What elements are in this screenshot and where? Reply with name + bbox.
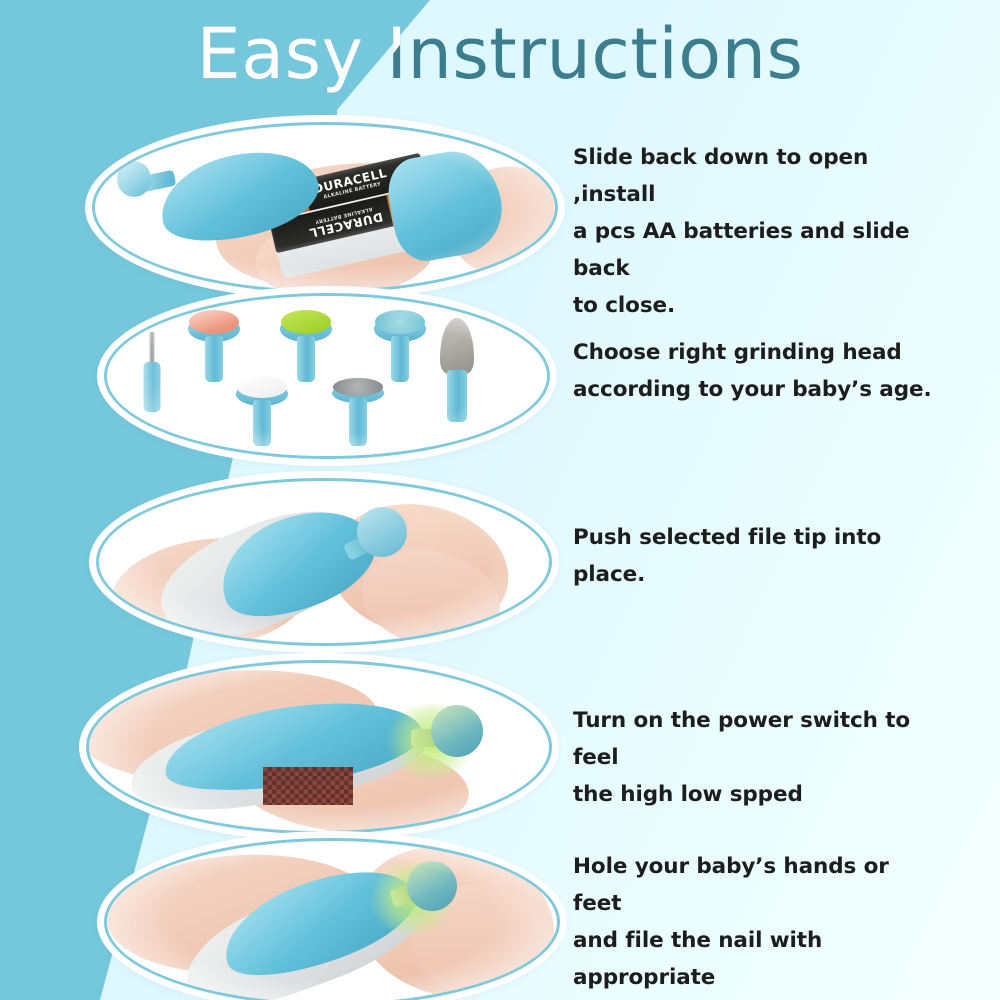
step-4-illustration [86, 660, 552, 834]
step-5-text: Hole your baby’s hands or feet and file … [573, 848, 933, 1000]
step-2-text: Choose right grinding head according to … [573, 334, 933, 408]
step-3-text: Push selected file tip into place. [573, 519, 933, 593]
page-title: Easy Instructions Easy Instructions [0, 0, 1000, 110]
instruction-poster: Easy Instructions Easy Instructions DURA… [0, 0, 1000, 1000]
step-3-illustration [96, 478, 552, 646]
band-fill-left [0, 100, 60, 1000]
step-1-text: Slide back down to open ,install a pcs A… [573, 139, 933, 324]
step-4-text: Turn on the power switch to feel the hig… [573, 702, 933, 813]
step-1-illustration: DURACELL ALKALINE BATTERY DURACELL ALKAL… [92, 122, 558, 293]
step-2-illustration [104, 293, 550, 459]
step-5-illustration [104, 838, 560, 1000]
